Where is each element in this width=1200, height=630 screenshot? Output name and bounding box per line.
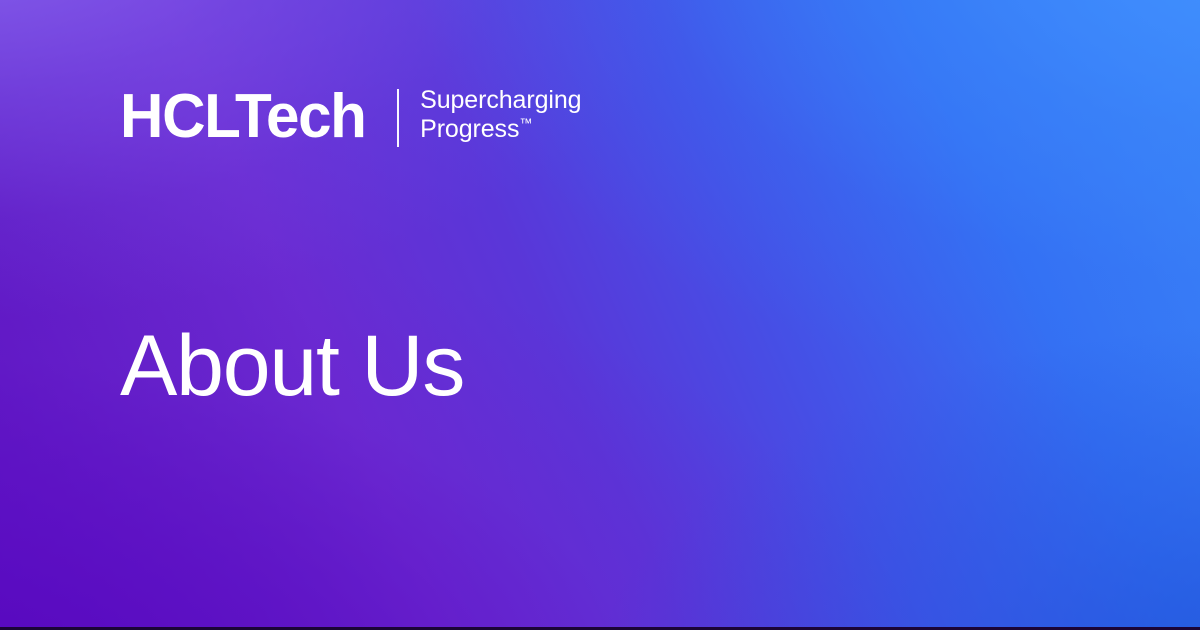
og-banner: HCLTech Supercharging Progress™ About Us: [0, 0, 1200, 630]
tagline-line-2: Progress: [420, 115, 519, 143]
hcltech-wordmark: HCLTech: [120, 86, 366, 148]
tagline-line-1: Supercharging: [420, 86, 581, 114]
logo-divider-bar: [397, 89, 399, 147]
page-title: About Us: [120, 318, 464, 414]
hcltech-logo-lockup[interactable]: HCLTech Supercharging Progress™: [120, 84, 581, 148]
logo-tagline: Supercharging Progress™: [420, 84, 581, 144]
trademark-symbol: ™: [519, 116, 532, 131]
